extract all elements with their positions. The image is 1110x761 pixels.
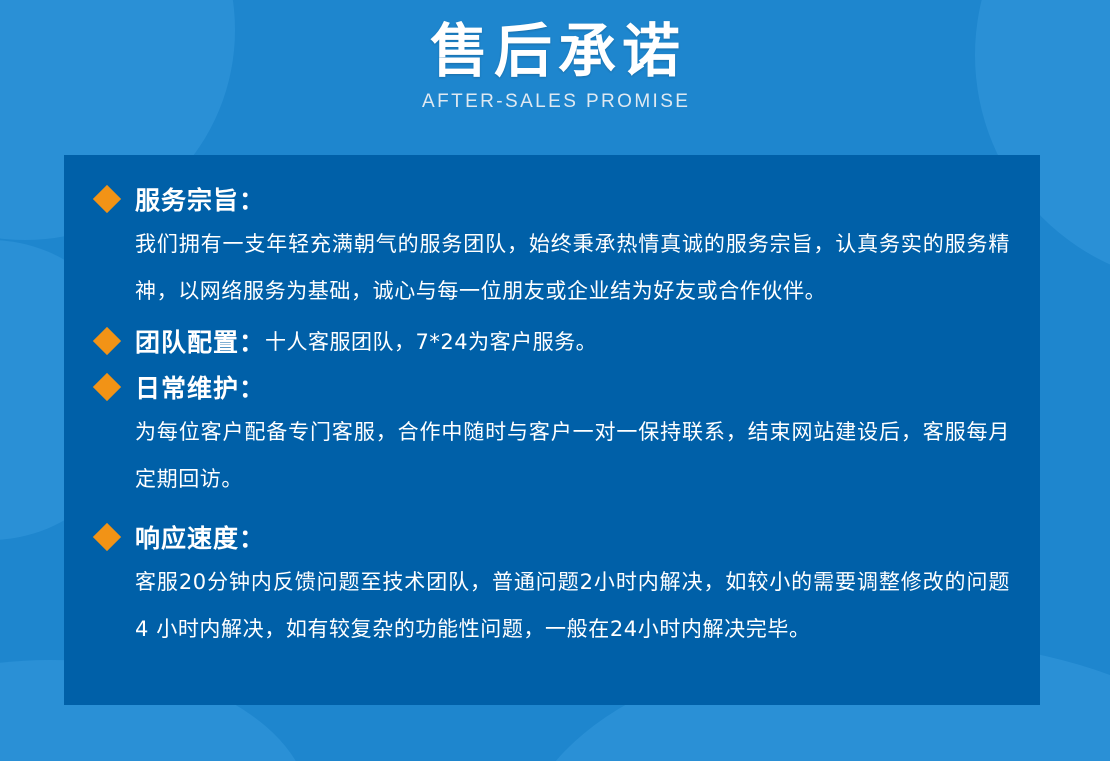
section-service-principle: 服务宗旨： 我们拥有一支年轻充满朝气的服务团队，始终秉承热情真诚的服务宗旨，认真… [94,179,1010,315]
section-response-speed: 响应速度： 客服20分钟内反馈问题至技术团队，普通问题2小时内解决，如较小的需要… [94,517,1010,653]
section-body-text: 客服20分钟内反馈问题至技术团队，普通问题2小时内解决，如较小的需要调整修改的问… [135,559,1010,653]
diamond-bullet-icon [93,523,121,551]
diamond-bullet-icon [93,373,121,401]
section-body-text: 我们拥有一支年轻充满朝气的服务团队，始终秉承热情真诚的服务宗旨，认真务实的服务精… [135,221,1010,315]
after-sales-promise-page: 售后承诺 AFTER-SALES PROMISE 服务宗旨： 我们拥有一支年轻充… [0,0,1110,761]
section-heading-label: 响应速度： [135,519,265,555]
section-heading-row: 日常维护： [94,367,1010,407]
diamond-bullet-icon [93,327,121,355]
spacer [94,503,1010,517]
section-heading-row: 服务宗旨： [94,179,1010,219]
page-title-english: AFTER-SALES PROMISE [0,90,1110,114]
section-heading-row: 响应速度： [94,517,1010,557]
section-heading-row: 团队配置： 十人客服团队，7*24为客户服务。 [94,321,1010,361]
section-team-configuration: 团队配置： 十人客服团队，7*24为客户服务。 [94,321,1010,361]
section-heading-label: 团队配置： [135,323,265,359]
diamond-bullet-icon [93,185,121,213]
section-heading-label: 服务宗旨： [135,181,265,217]
content-panel: 服务宗旨： 我们拥有一支年轻充满朝气的服务团队，始终秉承热情真诚的服务宗旨，认真… [64,155,1040,705]
section-daily-maintenance: 日常维护： 为每位客户配备专门客服，合作中随时与客户一对一保持联系，结束网站建设… [94,367,1010,503]
page-title-chinese: 售后承诺 [0,18,1110,84]
page-header: 售后承诺 AFTER-SALES PROMISE [0,18,1110,114]
section-heading-label: 日常维护： [135,369,265,405]
section-inline-text: 十人客服团队，7*24为客户服务。 [265,326,597,356]
section-body-text: 为每位客户配备专门客服，合作中随时与客户一对一保持联系，结束网站建设后，客服每月… [135,409,1010,503]
